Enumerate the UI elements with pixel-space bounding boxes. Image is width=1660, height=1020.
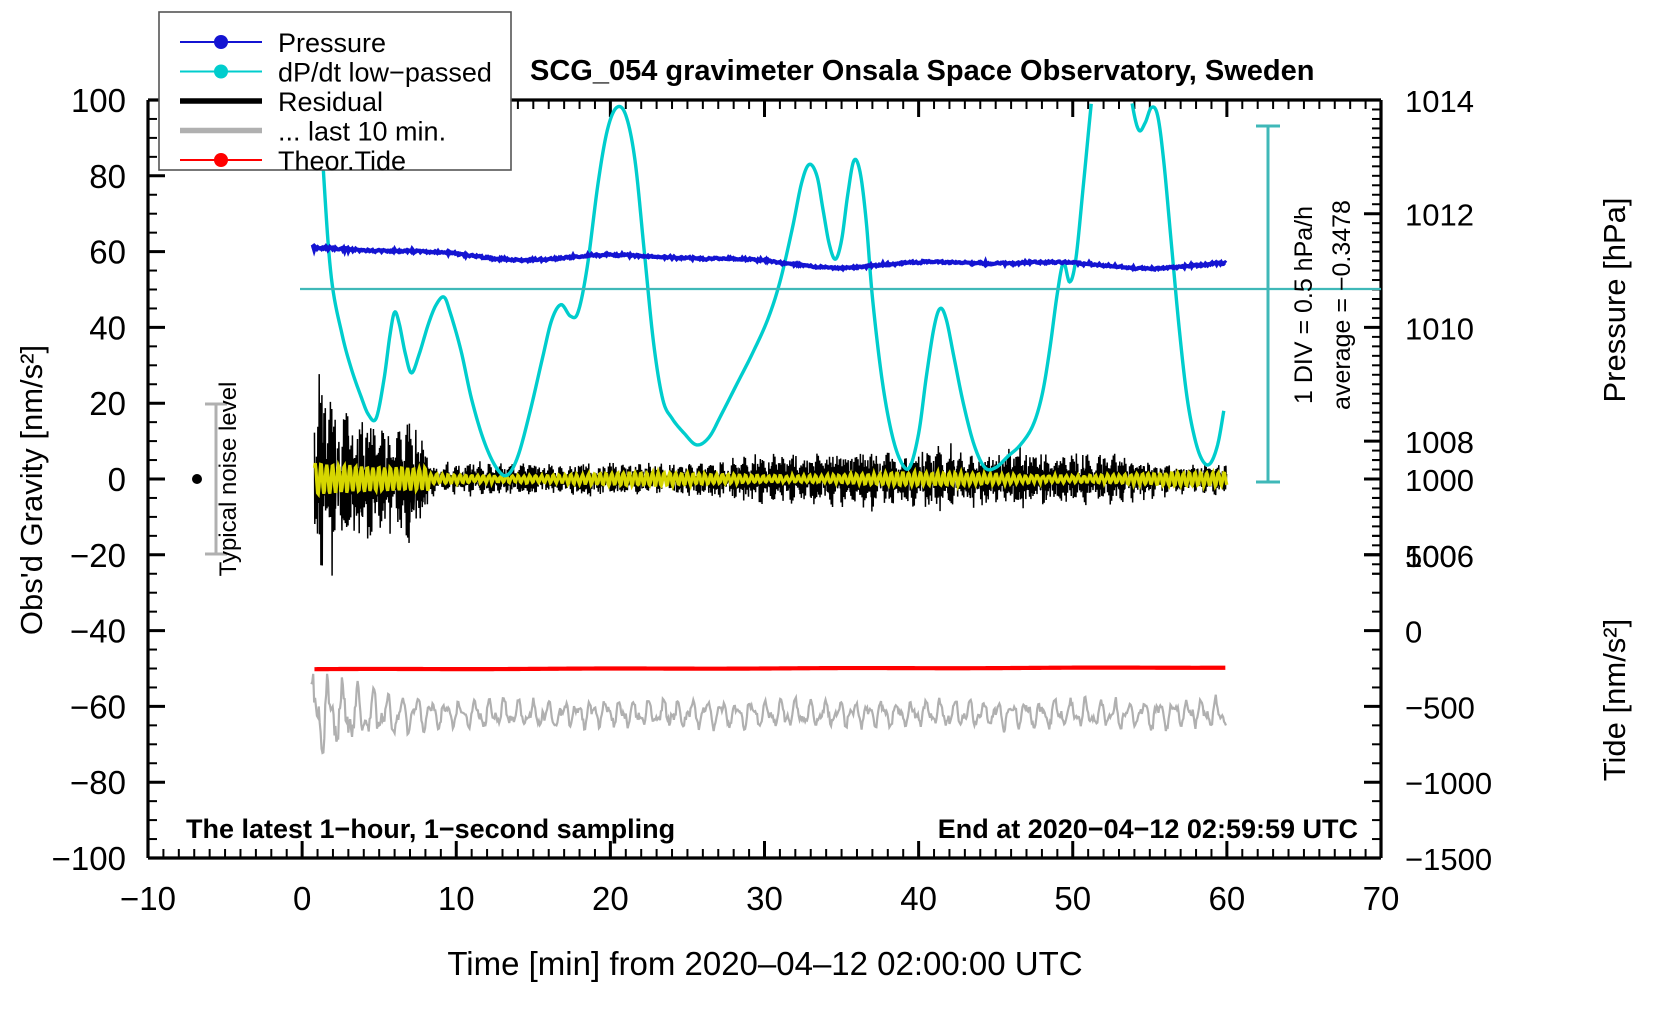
footer-left-text: The latest 1−hour, 1−second sampling xyxy=(186,814,675,844)
legend-label: Pressure xyxy=(278,28,386,58)
chart-title: SCG_054 gravimeter Onsala Space Observat… xyxy=(530,55,1314,87)
tide-tick-label: −500 xyxy=(1405,690,1475,725)
x-tick-label: −10 xyxy=(120,880,176,917)
y-tick-label: −100 xyxy=(52,840,126,877)
x-tick-label: 50 xyxy=(1054,880,1091,917)
x-tick-label: 0 xyxy=(293,880,311,917)
x-tick-label: 70 xyxy=(1363,880,1400,917)
tide-axis-title: Tide [nm/s²] xyxy=(1597,619,1632,782)
scale-bar-label: 1 DIV = 0.5 hPa/h xyxy=(1290,206,1318,404)
x-axis-title: Time [min] from 2020‒04‒12 02:00:00 UTC xyxy=(447,945,1082,982)
legend[interactable]: PressuredP/dt low−passedResidual... last… xyxy=(159,12,511,176)
y-tick-label: 0 xyxy=(108,461,126,498)
y-tick-label: −20 xyxy=(70,537,126,574)
x-tick-label: 30 xyxy=(746,880,783,917)
y-tick-label: 40 xyxy=(89,309,126,346)
tide-tick-label: −1000 xyxy=(1405,766,1492,801)
pressure-axis-title: Pressure [hPa] xyxy=(1597,197,1632,402)
x-tick-label: 60 xyxy=(1209,880,1246,917)
tide-tick-label: 500 xyxy=(1405,539,1457,574)
y-tick-label: −60 xyxy=(70,688,126,725)
gravimeter-chart: SCG_054 gravimeter Onsala Space Observat… xyxy=(0,0,1660,1020)
average-label: average = −0.3478 xyxy=(1328,200,1356,410)
footer-right-text: End at 2020−04−12 02:59:59 UTC xyxy=(938,814,1358,844)
y-tick-label: 100 xyxy=(71,82,126,119)
tide-tick-label: −1500 xyxy=(1405,842,1492,877)
tide-tick-label: 0 xyxy=(1405,615,1422,650)
x-tick-label: 20 xyxy=(592,880,629,917)
legend-label: Residual xyxy=(278,87,383,117)
y-tick-label: 80 xyxy=(89,158,126,195)
y-tick-label: −40 xyxy=(70,613,126,650)
legend-label: dP/dt low−passed xyxy=(278,58,492,88)
y-tick-label: 60 xyxy=(89,234,126,271)
x-tick-label: 10 xyxy=(438,880,475,917)
pressure-tick-label: 1012 xyxy=(1405,198,1474,233)
y-axis-title: Obs'd Gravity [nm/s²] xyxy=(14,345,49,635)
series-theoretical-tide xyxy=(314,668,1225,670)
x-tick-label: 40 xyxy=(900,880,937,917)
legend-label: ... last 10 min. xyxy=(278,117,446,147)
noise-level-label: Typical noise level xyxy=(215,382,242,577)
y-tick-label: −80 xyxy=(70,764,126,801)
pressure-tick-label: 1008 xyxy=(1405,425,1474,460)
tide-tick-label: 1000 xyxy=(1405,463,1474,498)
pressure-tick-label: 1014 xyxy=(1405,84,1474,119)
chart-canvas: SCG_054 gravimeter Onsala Space Observat… xyxy=(0,0,1660,1020)
y-tick-label: 20 xyxy=(89,385,126,422)
pressure-tick-label: 1010 xyxy=(1405,311,1474,346)
noise-center-dot xyxy=(192,474,202,484)
legend-label: Theor.Tide xyxy=(278,146,406,176)
